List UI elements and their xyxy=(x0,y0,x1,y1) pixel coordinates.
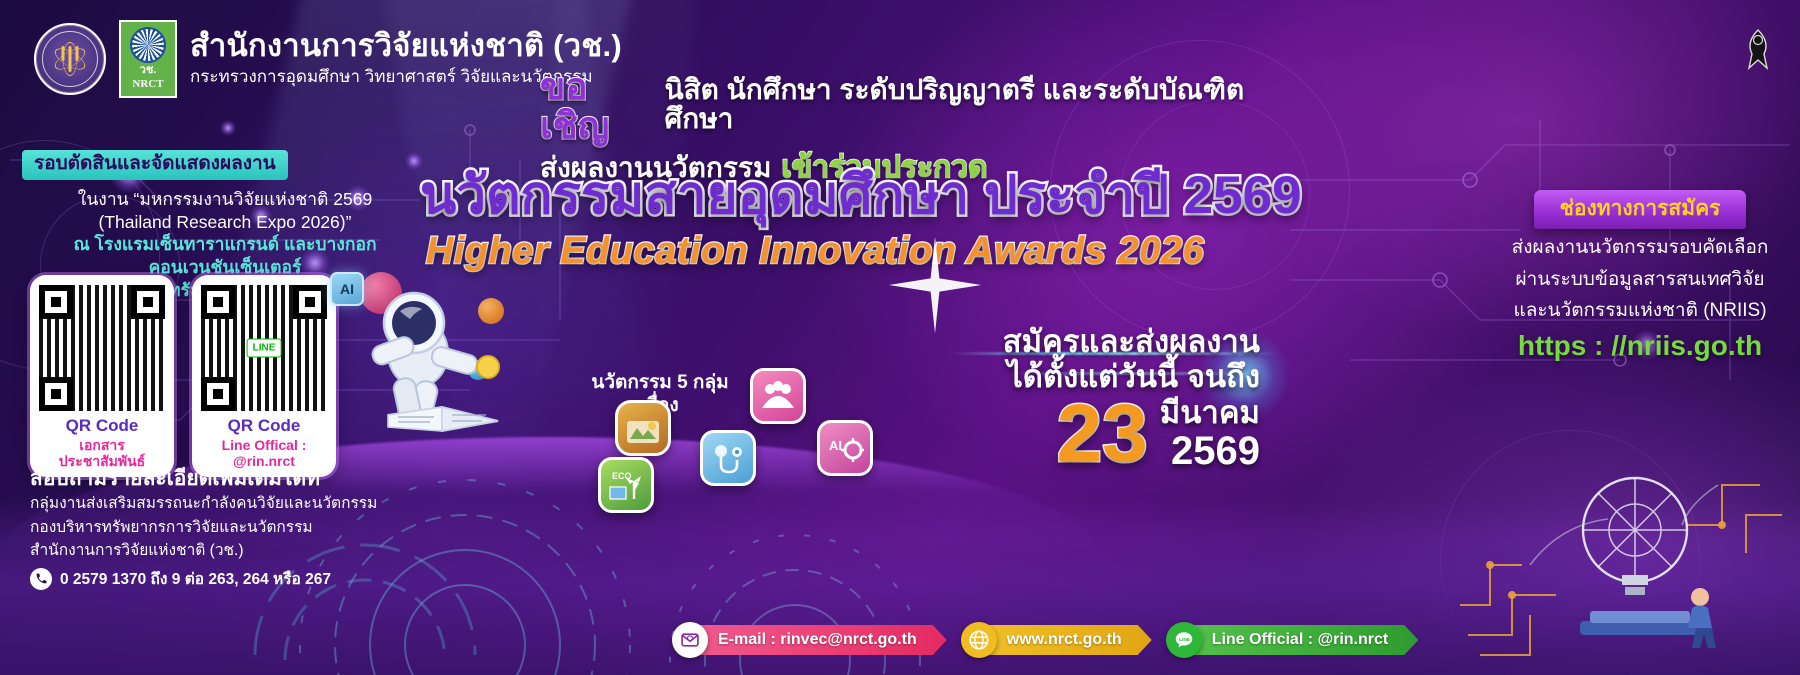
round-badge: รอบตัดสินและจัดแสดงผลงาน xyxy=(22,150,288,180)
deadline-year: 2569 xyxy=(1171,429,1260,473)
nrct-disc-icon xyxy=(130,27,166,63)
enquiry-line-1: กลุ่มงานส่งเสริมสมรรถนะกำลังคนวิจัยและนว… xyxy=(30,492,460,515)
qr-press-document[interactable]: QR Code เอกสารประชาสัมพันธ์ xyxy=(30,275,174,477)
group-society-community xyxy=(750,368,806,424)
chip-website-label: www.nrct.go.th xyxy=(983,625,1152,655)
channel-tab-label: ช่องทางการสมัคร xyxy=(1534,190,1747,229)
nrct-logo: วช. NRCT xyxy=(119,20,177,98)
idea-bulb-illustration xyxy=(1460,445,1790,675)
phone-row: 0 2579 1370 ถึง 9 ต่อ 263, 264 หรือ 267 xyxy=(30,566,460,591)
svg-text:ECO: ECO xyxy=(612,471,632,481)
organization-header: วช. NRCT สำนักงานการวิจัยแห่งชาติ (วช.) … xyxy=(34,20,622,98)
nrct-logo-line1: วช. xyxy=(140,65,157,76)
chip-email-label: E-mail : rinvec@nrct.go.th xyxy=(694,625,947,655)
chip-line[interactable]: LINE Line Official : @rin.nrct xyxy=(1166,622,1419,658)
svg-text:LINE: LINE xyxy=(1179,637,1191,643)
enquiry-line-2: กองบริหารทรัพยากรการวิจัยและนวัตกรรม xyxy=(30,516,460,539)
svg-text:AI: AI xyxy=(829,438,842,453)
line-chat-icon: LINE xyxy=(1166,622,1202,658)
group-agriculture-food xyxy=(615,400,671,456)
phone-number: 0 2579 1370 ถึง 9 ต่อ 263, 264 หรือ 267 xyxy=(60,566,331,591)
deadline-line-1: สมัครและส่งผลงาน xyxy=(960,325,1260,360)
deadline-month: มีนาคม xyxy=(1160,395,1260,430)
nrct-logo-line2: NRCT xyxy=(132,78,163,90)
nrct-emblem-icon xyxy=(34,23,106,95)
black-mourning-ribbon-icon xyxy=(1736,22,1780,72)
poster-canvas: วช. NRCT สำนักงานการวิจัยแห่งชาติ (วช.) … xyxy=(0,0,1800,675)
group-health-medical xyxy=(700,430,756,486)
email-envelope-icon xyxy=(672,622,708,658)
venue-line-2: (Thailand Research Expo 2026)” xyxy=(48,211,402,234)
astronaut-illustration xyxy=(330,275,560,475)
audience-text: นิสิต นักศึกษา ระดับปริญญาตรี และระดับบั… xyxy=(664,75,1300,134)
channel-line-3: และนวัตกรรมแห่งชาติ (NRIIS) xyxy=(1495,298,1785,323)
enquiry-block: สอบถามรายละเอียดเพิ่มเติมได้ที่ กลุ่มงาน… xyxy=(30,465,460,591)
group-ai-technology: AI xyxy=(817,420,873,476)
qr-center-label: LINE xyxy=(247,339,282,358)
qr-card-title: QR Code xyxy=(200,417,328,436)
organization-name: สำนักงานการวิจัยแห่งชาติ (วช.) xyxy=(190,30,622,63)
page-title-thai: นวัตกรรมสายอุดมศึกษา ประจำปี 2569 xyxy=(420,168,1210,224)
chip-website[interactable]: www.nrct.go.th xyxy=(961,622,1152,658)
chip-line-label: Line Official : @rin.nrct xyxy=(1188,625,1419,655)
application-channel-block: ช่องทางการสมัคร ส่งผลงานนวัตกรรมรอบคัดเล… xyxy=(1495,190,1785,362)
ring-decoration xyxy=(1440,430,1700,675)
channel-line-2: ผ่านระบบข้อมูลสารสนเทศวิจัย xyxy=(1495,267,1785,292)
page-title-english: Higher Education Innovation Awards 2026 xyxy=(420,232,1210,272)
glow-dot xyxy=(220,120,236,136)
group-eco-energy: ECO xyxy=(598,457,654,513)
chip-email[interactable]: E-mail : rinvec@nrct.go.th xyxy=(672,622,947,658)
phone-icon xyxy=(30,568,52,590)
qr-code-image: LINE xyxy=(201,285,327,411)
atom-orbit-icon xyxy=(53,42,87,76)
qr-code-image xyxy=(39,285,165,411)
deadline-day: 23 xyxy=(1057,398,1148,470)
trident-icon xyxy=(69,46,72,72)
enquiry-line-3: สำนักงานการวิจัยแห่งชาติ (วช.) xyxy=(30,539,460,562)
contact-chip-bar: E-mail : rinvec@nrct.go.th www.nrct.go.t… xyxy=(672,622,1418,658)
qr-line-official[interactable]: LINE QR Code Line Offical : @rin.nrct xyxy=(192,275,336,477)
nriis-url-link[interactable]: https : //nriis.go.th xyxy=(1495,329,1785,363)
invite-keyword: ขอเชิญ xyxy=(540,68,654,146)
venue-line-1: ในงาน “มหกรรมงานวิจัยแห่งชาติ 2569 xyxy=(48,188,402,211)
qr-card-title: QR Code xyxy=(38,417,166,436)
channel-line-1: ส่งผลงานนวัตกรรมรอบคัดเลือก xyxy=(1495,235,1785,260)
deadline-block: สมัครและส่งผลงาน ได้ตั้งแต่วันนี้ จนถึง … xyxy=(960,325,1260,471)
qr-code-group: QR Code เอกสารประชาสัมพันธ์ LINE QR Code… xyxy=(30,275,336,477)
globe-icon xyxy=(961,622,997,658)
